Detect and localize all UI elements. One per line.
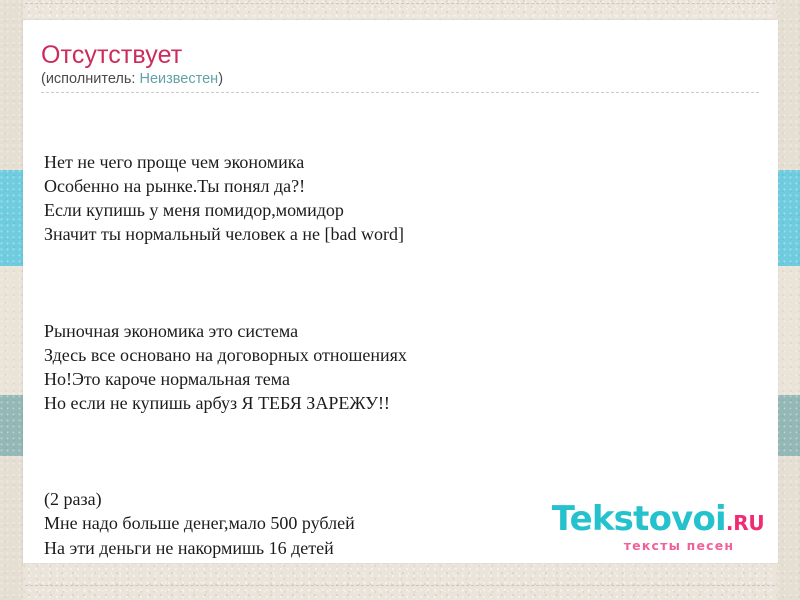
page-rule-top	[0, 3, 800, 4]
stripe-band-teal	[0, 395, 23, 456]
artist-link[interactable]: Неизвестен	[139, 71, 218, 87]
header-divider	[41, 92, 759, 93]
stripe-band-teal	[777, 395, 800, 456]
stripe-band-cyan	[0, 170, 23, 266]
site-logo-wordmark: Tekstovoi.RU	[544, 502, 772, 540]
stripe-band-cyan	[777, 170, 800, 266]
lyrics-card: Отсутствует (исполнитель: Неизвестен) Не…	[23, 20, 778, 563]
artist-prefix-label: (исполнитель:	[41, 71, 139, 87]
stripe-band-cream-top	[777, 0, 800, 170]
site-logo-tagline: тексты песен	[544, 539, 772, 553]
lyrics-card-inner: Отсутствует (исполнитель: Неизвестен) Не…	[23, 20, 778, 563]
site-logo-name: Tekstovoi	[552, 499, 726, 539]
artist-suffix-label: )	[218, 71, 223, 87]
lyrics-stanza: Рыночная экономика это система Здесь все…	[44, 319, 760, 415]
decor-stripe-right	[777, 0, 800, 600]
site-logo-tld: .RU	[726, 511, 764, 535]
page-rule-bottom	[0, 585, 800, 586]
decor-stripe-left	[0, 0, 23, 600]
artist-line: (исполнитель: Неизвестен)	[41, 71, 760, 92]
page-title: Отсутствует	[41, 42, 760, 69]
lyrics-body: Нет не чего проще чем экономика Особенно…	[41, 102, 760, 563]
stripe-band-cream-mid	[0, 266, 23, 395]
lyrics-stanza: Нет не чего проще чем экономика Особенно…	[44, 150, 760, 246]
site-logo[interactable]: Tekstovoi.RU тексты песен	[544, 502, 772, 553]
stripe-band-cream-bottom	[0, 456, 23, 600]
stripe-band-cream-top	[0, 0, 23, 170]
stripe-band-cream-bottom	[777, 456, 800, 600]
stripe-band-cream-mid	[777, 266, 800, 395]
